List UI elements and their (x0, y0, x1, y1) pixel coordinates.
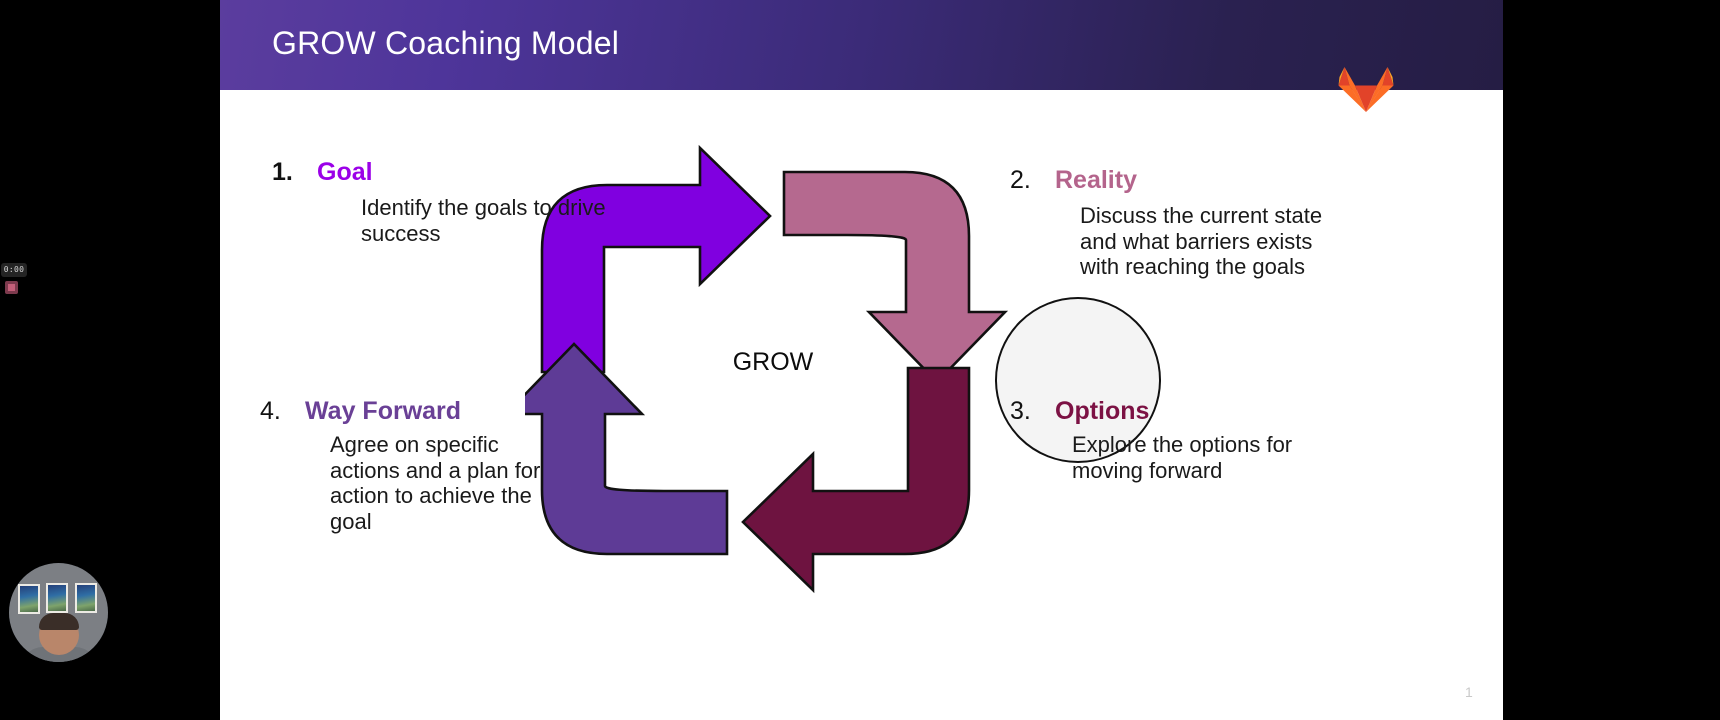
webcam-person-hair (39, 613, 79, 630)
quadrant-body-options: Explore the options for moving forward (1072, 432, 1302, 483)
quadrant-number: 2. (1010, 166, 1055, 195)
slide-page-number: 1 (1465, 684, 1473, 700)
screen: 0:00 GROW Coaching Model (0, 0, 1720, 720)
quadrant-way-forward: 4. Way Forward Agree on specific actions… (260, 397, 565, 535)
picture-frame-icon (18, 584, 40, 614)
quadrant-reality: 2. Reality Discuss the current state and… (1010, 166, 1325, 280)
quadrant-number: 3. (1010, 397, 1055, 426)
quadrant-body-reality: Discuss the current state and what barri… (1080, 203, 1325, 280)
quadrant-number: 4. (260, 397, 305, 426)
grow-center-label: GROW (708, 348, 838, 377)
quadrant-heading-way-forward: Way Forward (305, 397, 461, 426)
picture-frame-icon (75, 583, 97, 613)
webcam-preview[interactable] (9, 563, 108, 662)
quadrant-heading-reality: Reality (1055, 166, 1137, 195)
gitlab-logo (1338, 61, 1394, 113)
picture-frame-icon (46, 583, 68, 613)
page-title: GROW Coaching Model (272, 25, 619, 62)
recording-timer: 0:00 (1, 263, 27, 277)
quadrant-body-way-forward: Agree on specific actions and a plan for… (330, 432, 565, 535)
quadrant-goal: 1. Goal Identify the goals to drive succ… (272, 158, 626, 246)
stop-recording-button[interactable] (5, 281, 18, 294)
quadrant-options: 3. Options Explore the options for movin… (1010, 397, 1302, 483)
quadrant-number: 1. (272, 158, 317, 187)
arrow-options (743, 368, 969, 590)
stop-square-icon (8, 284, 15, 291)
presentation-slide: GROW Coaching Model (220, 0, 1503, 720)
quadrant-heading-goal: Goal (317, 158, 373, 187)
quadrant-heading-options: Options (1055, 397, 1149, 426)
quadrant-body-goal: Identify the goals to drive success (361, 195, 626, 246)
